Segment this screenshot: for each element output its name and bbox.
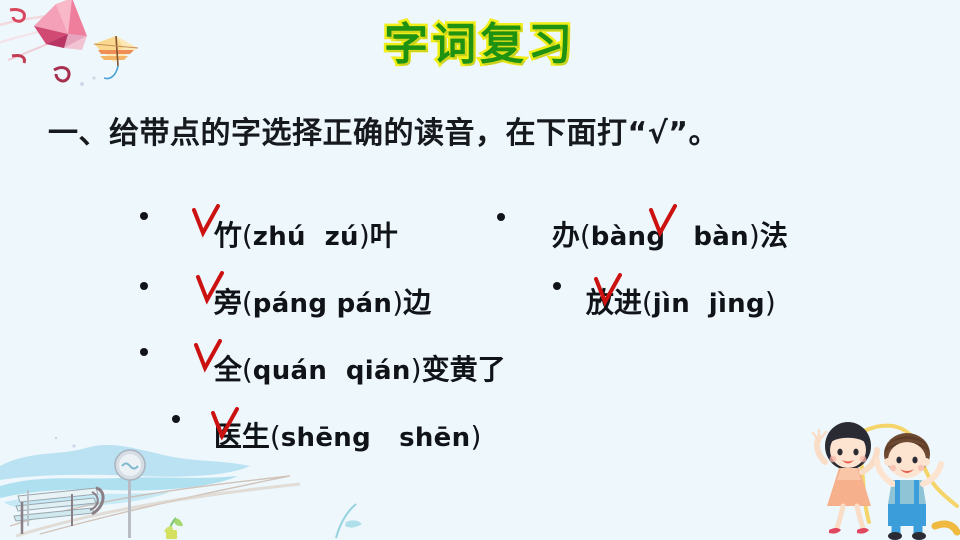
check-mark-icon	[195, 271, 225, 305]
exercise-row: 旁(páng pán)边 放进(jìn jìng)	[128, 243, 918, 310]
option-gap	[371, 423, 399, 453]
emphasis-dot	[140, 348, 148, 356]
check-mark-icon	[648, 204, 678, 238]
emphasis-dot	[553, 282, 561, 290]
emphasis-dot	[497, 213, 505, 221]
emphasis-dot	[140, 212, 148, 220]
slide-canvas: 字词复习 一、给带点的字选择正确的读音，在下面打“√”。 竹(zhú zú)叶 …	[0, 0, 960, 540]
exercise-row: 全(quán qián)变黄了	[128, 310, 918, 377]
exercise-row: 医生(shēng shēn)	[128, 377, 918, 444]
exercise-row: 竹(zhú zú)叶 办(bàng bàn)法	[128, 176, 918, 243]
check-mark-icon	[210, 407, 240, 441]
exercise-item-yi-sheng[interactable]: 医生(shēng shēn)	[128, 377, 481, 498]
paren-close: )	[470, 420, 481, 453]
paren-open: (	[270, 420, 281, 453]
pinyin-option-b[interactable]: shēn	[399, 423, 470, 453]
check-mark-icon	[593, 273, 623, 307]
check-mark-icon	[193, 339, 223, 373]
check-mark-icon	[191, 204, 221, 238]
title-block: 字词复习	[0, 8, 960, 72]
instruction-text: 一、给带点的字选择正确的读音，在下面打“√”。	[48, 108, 719, 152]
page-title: 字词复习	[384, 8, 576, 72]
exercise-list: 竹(zhú zú)叶 办(bàng bàn)法	[128, 176, 918, 444]
emphasis-dot	[140, 282, 148, 290]
pinyin-option-a[interactable]: shēng	[281, 423, 371, 453]
emphasis-dot	[172, 415, 180, 423]
